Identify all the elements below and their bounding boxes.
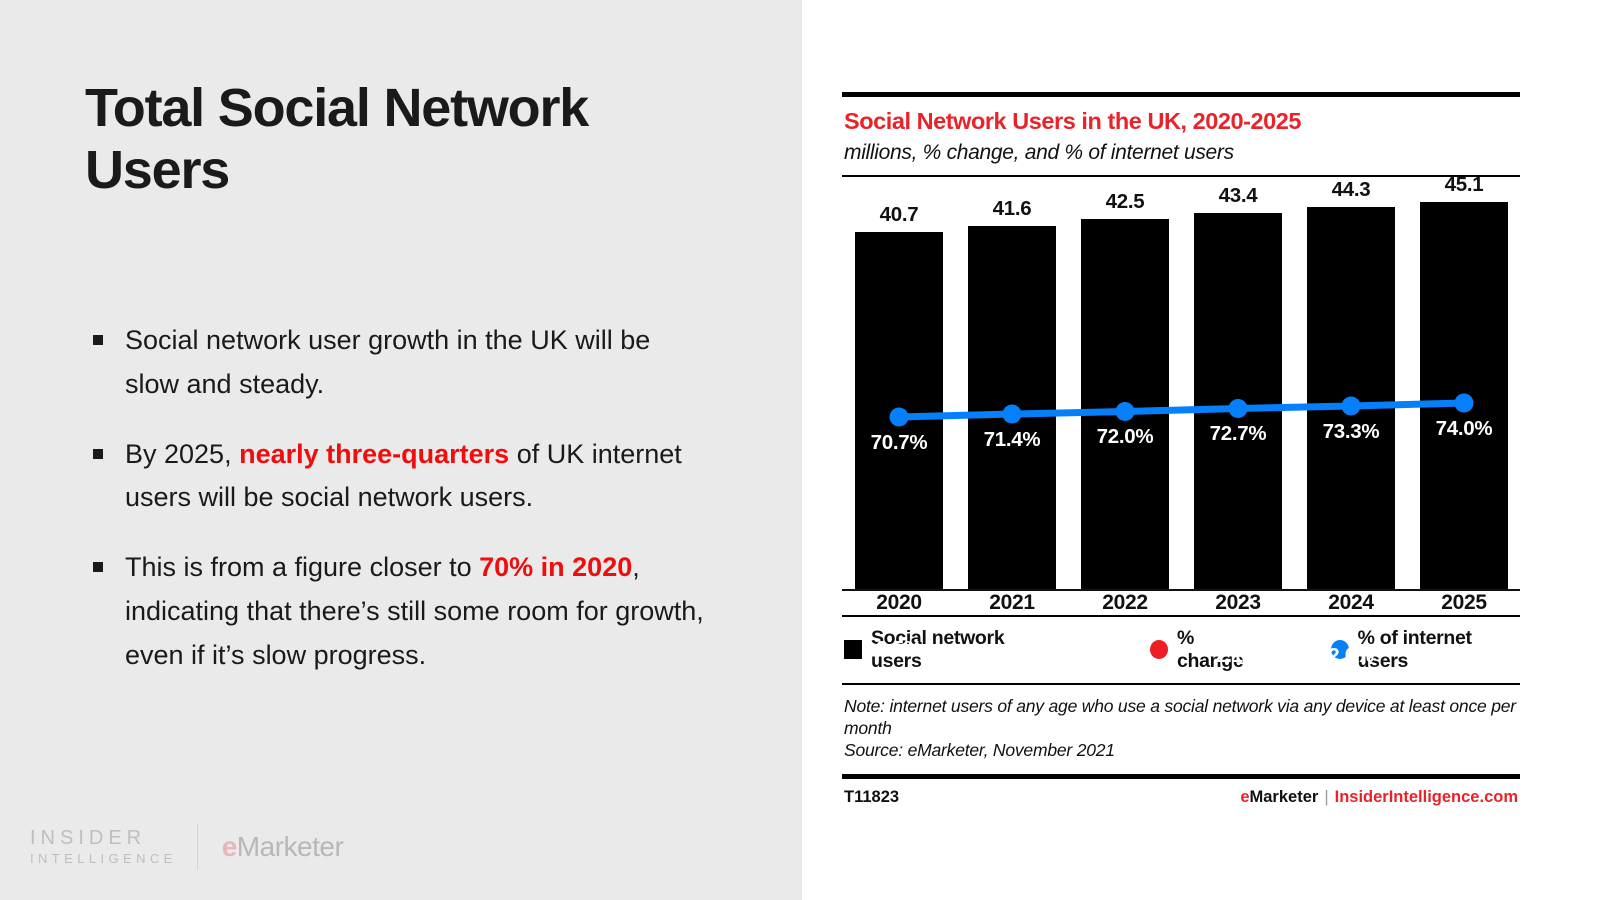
- chart-legend: Social network users % change % of inter…: [842, 623, 1520, 683]
- bar-column: 44.3: [1307, 207, 1395, 590]
- emphasis-text: nearly three-quarters: [239, 439, 509, 469]
- bar-column: 42.5: [1081, 219, 1169, 589]
- bar: [1307, 207, 1395, 590]
- chart-id: T11823: [844, 788, 899, 807]
- chart-panel: Social Network Users in the UK, 2020-202…: [802, 0, 1600, 900]
- x-axis-label: 2023: [1194, 591, 1282, 615]
- bar-value-label: 41.6: [968, 197, 1056, 226]
- plain-text: This is from a figure closer to: [125, 552, 479, 582]
- x-axis-label: 2021: [968, 591, 1056, 615]
- left-content-panel: Total Social Network Users Social networ…: [0, 0, 802, 900]
- footer-brand-site: InsiderIntelligence.com: [1335, 788, 1518, 806]
- bar-column: 41.6: [968, 226, 1056, 590]
- emarketer-rest: Marketer: [237, 831, 343, 862]
- pct-internet-users-label: 70.7%: [855, 431, 943, 455]
- x-axis-label: 2024: [1307, 591, 1395, 615]
- bar: [855, 232, 943, 590]
- x-axis-label: 2025: [1420, 591, 1508, 615]
- list-item: Social network user growth in the UK wil…: [85, 319, 705, 406]
- pct-change-label: 2.1%: [1194, 644, 1282, 668]
- insider-intelligence-logo: INSIDER INTELLIGENCE eMarketer: [30, 824, 343, 870]
- bar-column: 45.1: [1420, 202, 1508, 590]
- chart-source: Source: eMarketer, November 2021: [844, 739, 1518, 761]
- line-series-overlay: [842, 185, 1520, 615]
- pct-internet-users-label: 72.0%: [1081, 425, 1169, 449]
- bullet-text-3: This is from a figure closer to 70% in 2…: [125, 552, 704, 669]
- bullet-list: Social network user growth in the UK wil…: [85, 319, 705, 677]
- bar-column: 40.7: [855, 232, 943, 590]
- chart-header-rule: [842, 175, 1520, 177]
- chart-header: Social Network Users in the UK, 2020-202…: [842, 97, 1520, 175]
- bullet-marker-icon: [93, 562, 103, 572]
- pct-internet-users-label: 74.0%: [1420, 417, 1508, 441]
- bar-value-label: 43.4: [1194, 184, 1282, 213]
- x-axis-label: 2020: [855, 591, 943, 615]
- logo-divider: [197, 824, 198, 870]
- emarketer-wordmark: eMarketer: [222, 831, 344, 863]
- plain-text: By 2025,: [125, 439, 239, 469]
- pct-change-label: 2.0%: [1307, 644, 1395, 668]
- bar-value-label: 42.5: [1081, 190, 1169, 219]
- chart-subtitle: millions, % change, and % of internet us…: [844, 139, 1518, 166]
- bullet-text-2: By 2025, nearly three-quarters of UK int…: [125, 439, 682, 513]
- list-item: This is from a figure closer to 70% in 2…: [85, 546, 705, 677]
- bar-value-label: 44.3: [1307, 178, 1395, 207]
- insider-wordmark: INSIDER INTELLIGENCE: [30, 826, 177, 867]
- pct-internet-users-label: 72.7%: [1194, 422, 1282, 446]
- footer-brand-pipe: |: [1318, 788, 1334, 806]
- chart-card: Social Network Users in the UK, 2020-202…: [842, 92, 1520, 807]
- bar: [1194, 213, 1282, 589]
- chart-footer: T11823 eMarketer|InsiderIntelligence.com: [842, 779, 1520, 807]
- bullet-text-1: Social network user growth in the UK wil…: [125, 325, 650, 399]
- chart-note: Note: internet users of any age who use …: [844, 695, 1518, 740]
- chart-footer-brand: eMarketer|InsiderIntelligence.com: [1240, 788, 1518, 807]
- bar-value-label: 40.7: [855, 203, 943, 232]
- pct-change-label: 2.4%: [968, 642, 1056, 666]
- pct-change-label: 2.2%: [1081, 643, 1169, 667]
- slide: Total Social Network Users Social networ…: [0, 0, 1600, 900]
- pct-change-label: 3.5%: [855, 637, 943, 661]
- bar-column: 43.4: [1194, 213, 1282, 589]
- pct-change-label: 1.9%: [1420, 645, 1508, 669]
- chart-title: Social Network Users in the UK, 2020-202…: [844, 107, 1518, 136]
- list-item: By 2025, nearly three-quarters of UK int…: [85, 433, 705, 520]
- bullet-marker-icon: [93, 449, 103, 459]
- bullet-marker-icon: [93, 335, 103, 345]
- chart-notes: Note: internet users of any age who use …: [842, 685, 1520, 774]
- emarketer-e: e: [222, 831, 237, 862]
- insider-line-1: INSIDER: [30, 826, 177, 851]
- page-title: Total Social Network Users: [85, 78, 705, 201]
- pct-internet-users-label: 71.4%: [968, 428, 1056, 452]
- plain-text: Social network user growth in the UK wil…: [125, 325, 650, 399]
- insider-line-2: INTELLIGENCE: [30, 851, 177, 867]
- x-axis-labels: 202020212022202320242025: [842, 591, 1520, 619]
- x-axis-label: 2022: [1081, 591, 1169, 615]
- bar: [968, 226, 1056, 590]
- footer-brand-e: e: [1240, 788, 1249, 806]
- bar-value-label: 45.1: [1420, 173, 1508, 202]
- pct-internet-users-label: 73.3%: [1307, 420, 1395, 444]
- chart-plot-area: 40.741.642.543.444.345.1 70.7%71.4%72.0%…: [842, 185, 1520, 615]
- bar: [1420, 202, 1508, 590]
- emphasis-text: 70% in 2020: [479, 552, 632, 582]
- bar: [1081, 219, 1169, 589]
- footer-brand-name: Marketer: [1250, 788, 1319, 806]
